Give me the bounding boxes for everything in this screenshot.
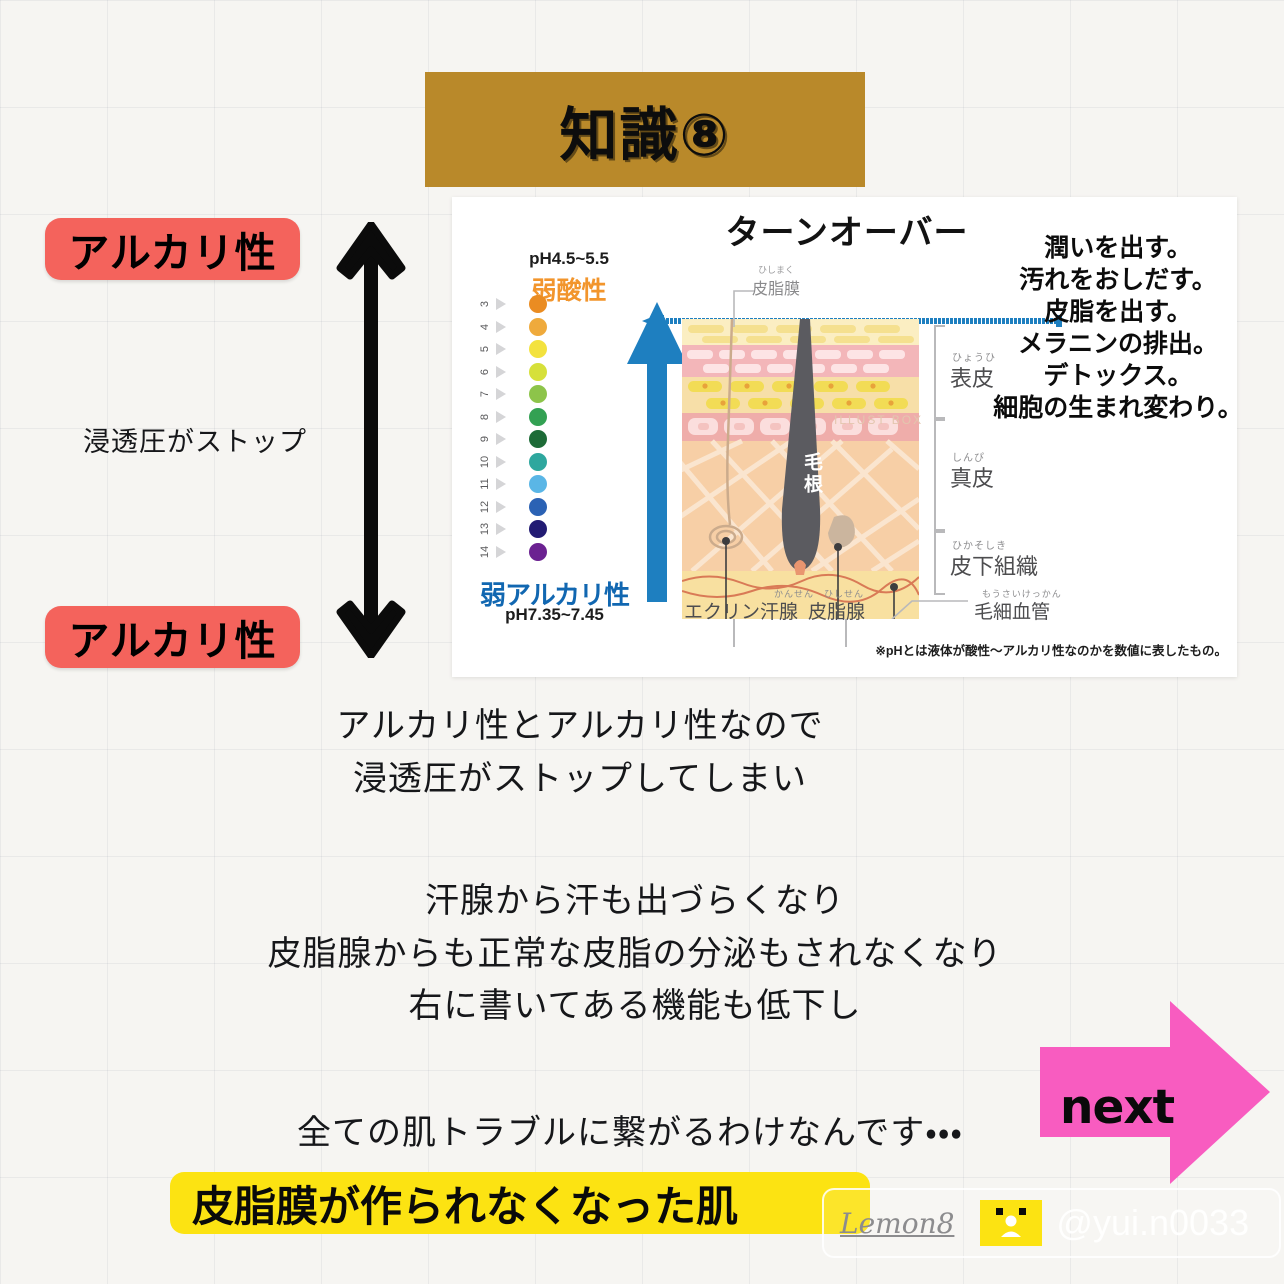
bottom-banner: 皮脂膜が作られなくなった肌 [170,1172,870,1234]
ph-acid-range: pH4.5~5.5 [494,249,644,269]
ph-color-dot [529,318,547,336]
ph-value: 7 [479,383,491,405]
ph-color-dot [529,340,547,358]
epidermis-label: 表皮 [950,361,994,393]
alkaline-badge-bottom: アルカリ性 [45,606,300,668]
body-paragraph-3: 全ての肌トラブルに繋がるわけなんです・・・ [230,1105,1030,1154]
epidermis-bracket [934,325,945,419]
chevron-right-icon [496,478,524,490]
ph-scale: 34567891011121314 [474,293,584,563]
body-line: 汗腺から汗も出づらくなり [200,875,1070,928]
chevron-right-icon [496,343,524,355]
chevron-right-icon [496,366,524,378]
ph-color-dot [529,520,547,538]
subcutaneous-label: 皮下組織 [950,549,1038,581]
ph-color-dot [529,430,547,448]
chevron-right-icon [496,388,524,400]
alkaline-badge-bottom-label: アルカリ性 [68,607,276,667]
skin-functions-list: 潤いを出す。汚れをおしだす。皮脂を出す。メラニンの排出。デトックス。細胞の生まれ… [993,232,1243,424]
ph-value: 11 [479,473,491,495]
skin-function-item: 汚れをおしだす。 [993,264,1243,296]
skin-function-item: メラニンの排出。 [993,328,1243,360]
ph-value: 8 [479,406,491,428]
alkaline-badge-top-label: アルカリ性 [68,219,276,279]
ph-color-dot [529,498,547,516]
ph-value: 9 [479,428,491,450]
body-line: 皮脂腺からも正常な皮脂の分泌もされなくなり [200,928,1070,981]
ph-value: 4 [479,316,491,338]
ph-color-dot [529,385,547,403]
sebum-film-leader-line [720,285,756,327]
person-icon [980,1200,1042,1246]
ph-value: 5 [479,338,491,360]
dermis-bracket [934,419,945,531]
blue-up-arrow-icon [627,302,687,602]
app-watermark: Lemon8 @yui.n0033 [822,1188,1281,1258]
body-line: 全ての肌トラブルに繋がるわけなんです・・・ [230,1105,1030,1154]
hair-root-label: 毛根 [798,452,825,496]
ph-scale-row: 4 [474,316,584,339]
osmosis-note: 浸透圧がストップ [60,420,330,459]
ph-scale-row: 6 [474,361,584,384]
ph-value: 10 [479,451,491,473]
body-line: アルカリ性とアルカリ性なので [230,700,930,753]
chevron-right-icon [496,298,524,310]
ph-color-dot [529,295,547,313]
user-handle: @yui.n0033 [1056,1202,1249,1244]
ph-color-dot [529,363,547,381]
ph-scale-row: 10 [474,451,584,474]
illust-box-watermark: ILLUST BOX [834,413,923,427]
double-headed-arrow-icon [336,222,406,658]
ph-color-dot [529,453,547,471]
ph-value: 14 [479,541,491,563]
ph-scale-row: 13 [474,518,584,541]
ph-value: 6 [479,361,491,383]
ph-scale-row: 5 [474,338,584,361]
title-banner: 知識⑧ [425,72,865,187]
ph-footnote: ※pHとは液体が酸性〜アルカリ性なのかを数値に表したもの。 [807,640,1227,659]
ph-scale-row: 14 [474,541,584,564]
ph-scale-row: 12 [474,496,584,519]
alkaline-badge-top: アルカリ性 [45,218,300,280]
ph-scale-row: 9 [474,428,584,451]
chevron-right-icon [496,523,524,535]
next-label[interactable]: next [1060,1080,1174,1135]
chevron-right-icon [496,456,524,468]
skin-function-item: 潤いを出す。 [993,232,1243,264]
body-paragraph-2: 汗腺から汗も出づらくなり皮脂腺からも正常な皮脂の分泌もされなくなり右に書いてある… [200,875,1070,1033]
sebum-film-label: 皮脂膜 [752,275,800,299]
ph-scale-row: 3 [474,293,584,316]
subcutaneous-bracket [934,531,945,595]
chevron-right-icon [496,411,524,423]
capillary-leader-line [890,587,970,619]
ph-value: 12 [479,496,491,518]
chevron-right-icon [496,321,524,333]
ph-scale-row: 7 [474,383,584,406]
chevron-right-icon [496,546,524,558]
skin-function-item: 細胞の生まれ変わり。 [993,392,1243,424]
body-line: 右に書いてある機能も低下し [200,980,1070,1033]
ph-value: 13 [479,518,491,540]
eccrine-label: エクリン汗腺 [684,597,798,624]
ph-alkaline-range: pH7.35~7.45 [462,605,647,625]
sebaceous-label: 皮脂腺 [808,597,865,624]
ph-color-dot [529,543,547,561]
skin-function-item: 皮脂を出す。 [993,296,1243,328]
bottom-banner-text: 皮脂膜が作られなくなった肌 [170,1173,738,1234]
skin-function-item: デトックス。 [993,360,1243,392]
capillary-label: 毛細血管 [974,597,1050,624]
page-title: 知識⑧ [559,88,730,172]
ph-scale-row: 11 [474,473,584,496]
chevron-right-icon [496,433,524,445]
ph-color-dot [529,475,547,493]
body-paragraph-1: アルカリ性とアルカリ性なので浸透圧がストップしてしまい [230,700,930,805]
ph-value: 3 [479,293,491,315]
ph-scale-row: 8 [474,406,584,429]
ph-color-dot [529,408,547,426]
turnover-title: ターンオーバー [687,205,1007,254]
body-line: 浸透圧がストップしてしまい [230,753,930,806]
chevron-right-icon [496,501,524,513]
lemon8-logo: Lemon8 [824,1207,954,1240]
dermis-label: 真皮 [950,461,994,493]
